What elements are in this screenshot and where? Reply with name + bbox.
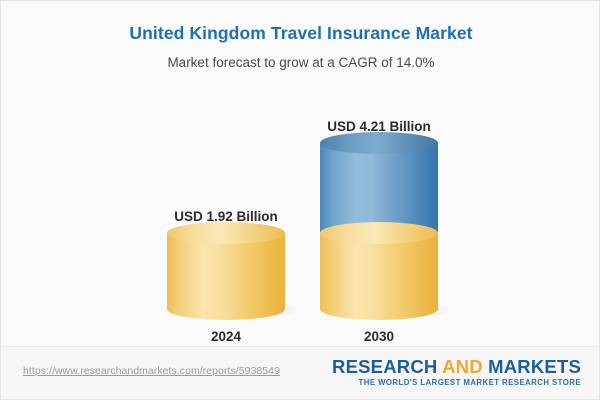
brand-word-markets: MARKETS bbox=[483, 356, 581, 377]
brand-logo[interactable]: RESEARCH AND MARKETS THE WORLD'S LARGEST… bbox=[332, 357, 581, 387]
cylinder-segment-divider-cap bbox=[320, 222, 438, 244]
page-title: United Kingdom Travel Insurance Market bbox=[1, 1, 600, 44]
footer-bar: https://www.researchandmarkets.com/repor… bbox=[1, 346, 600, 399]
cylinder-top-cap bbox=[167, 222, 285, 244]
category-label-2030: 2030 bbox=[314, 329, 444, 344]
source-url-link[interactable]: https://www.researchandmarkets.com/repor… bbox=[23, 365, 280, 377]
cylinder-body bbox=[320, 143, 438, 233]
brand-word-research: RESEARCH bbox=[332, 356, 442, 377]
category-label-2024: 2024 bbox=[161, 329, 291, 344]
cylinder-2030[interactable] bbox=[320, 143, 438, 309]
bar-segment-2030-growth[interactable] bbox=[320, 143, 438, 233]
brand-name: RESEARCH AND MARKETS bbox=[332, 357, 581, 376]
chart-header: United Kingdom Travel Insurance Market M… bbox=[1, 1, 600, 70]
brand-word-and: AND bbox=[442, 356, 483, 377]
cylinder-body bbox=[320, 233, 438, 309]
cylinder-body bbox=[167, 233, 285, 309]
cylinder-top-cap bbox=[320, 132, 438, 154]
bar-segment-2024-base[interactable] bbox=[167, 233, 285, 309]
cylinder-2024[interactable] bbox=[167, 233, 285, 309]
chart-subtitle: Market forecast to grow at a CAGR of 14.… bbox=[1, 44, 600, 70]
bar-segment-2030-base[interactable] bbox=[320, 233, 438, 309]
chart-plot-area: USD 1.92 Billion 2024 USD 4.21 Billion bbox=[1, 86, 600, 346]
brand-tagline: THE WORLD'S LARGEST MARKET RESEARCH STOR… bbox=[332, 378, 581, 387]
infographic-card: United Kingdom Travel Insurance Market M… bbox=[0, 0, 600, 400]
